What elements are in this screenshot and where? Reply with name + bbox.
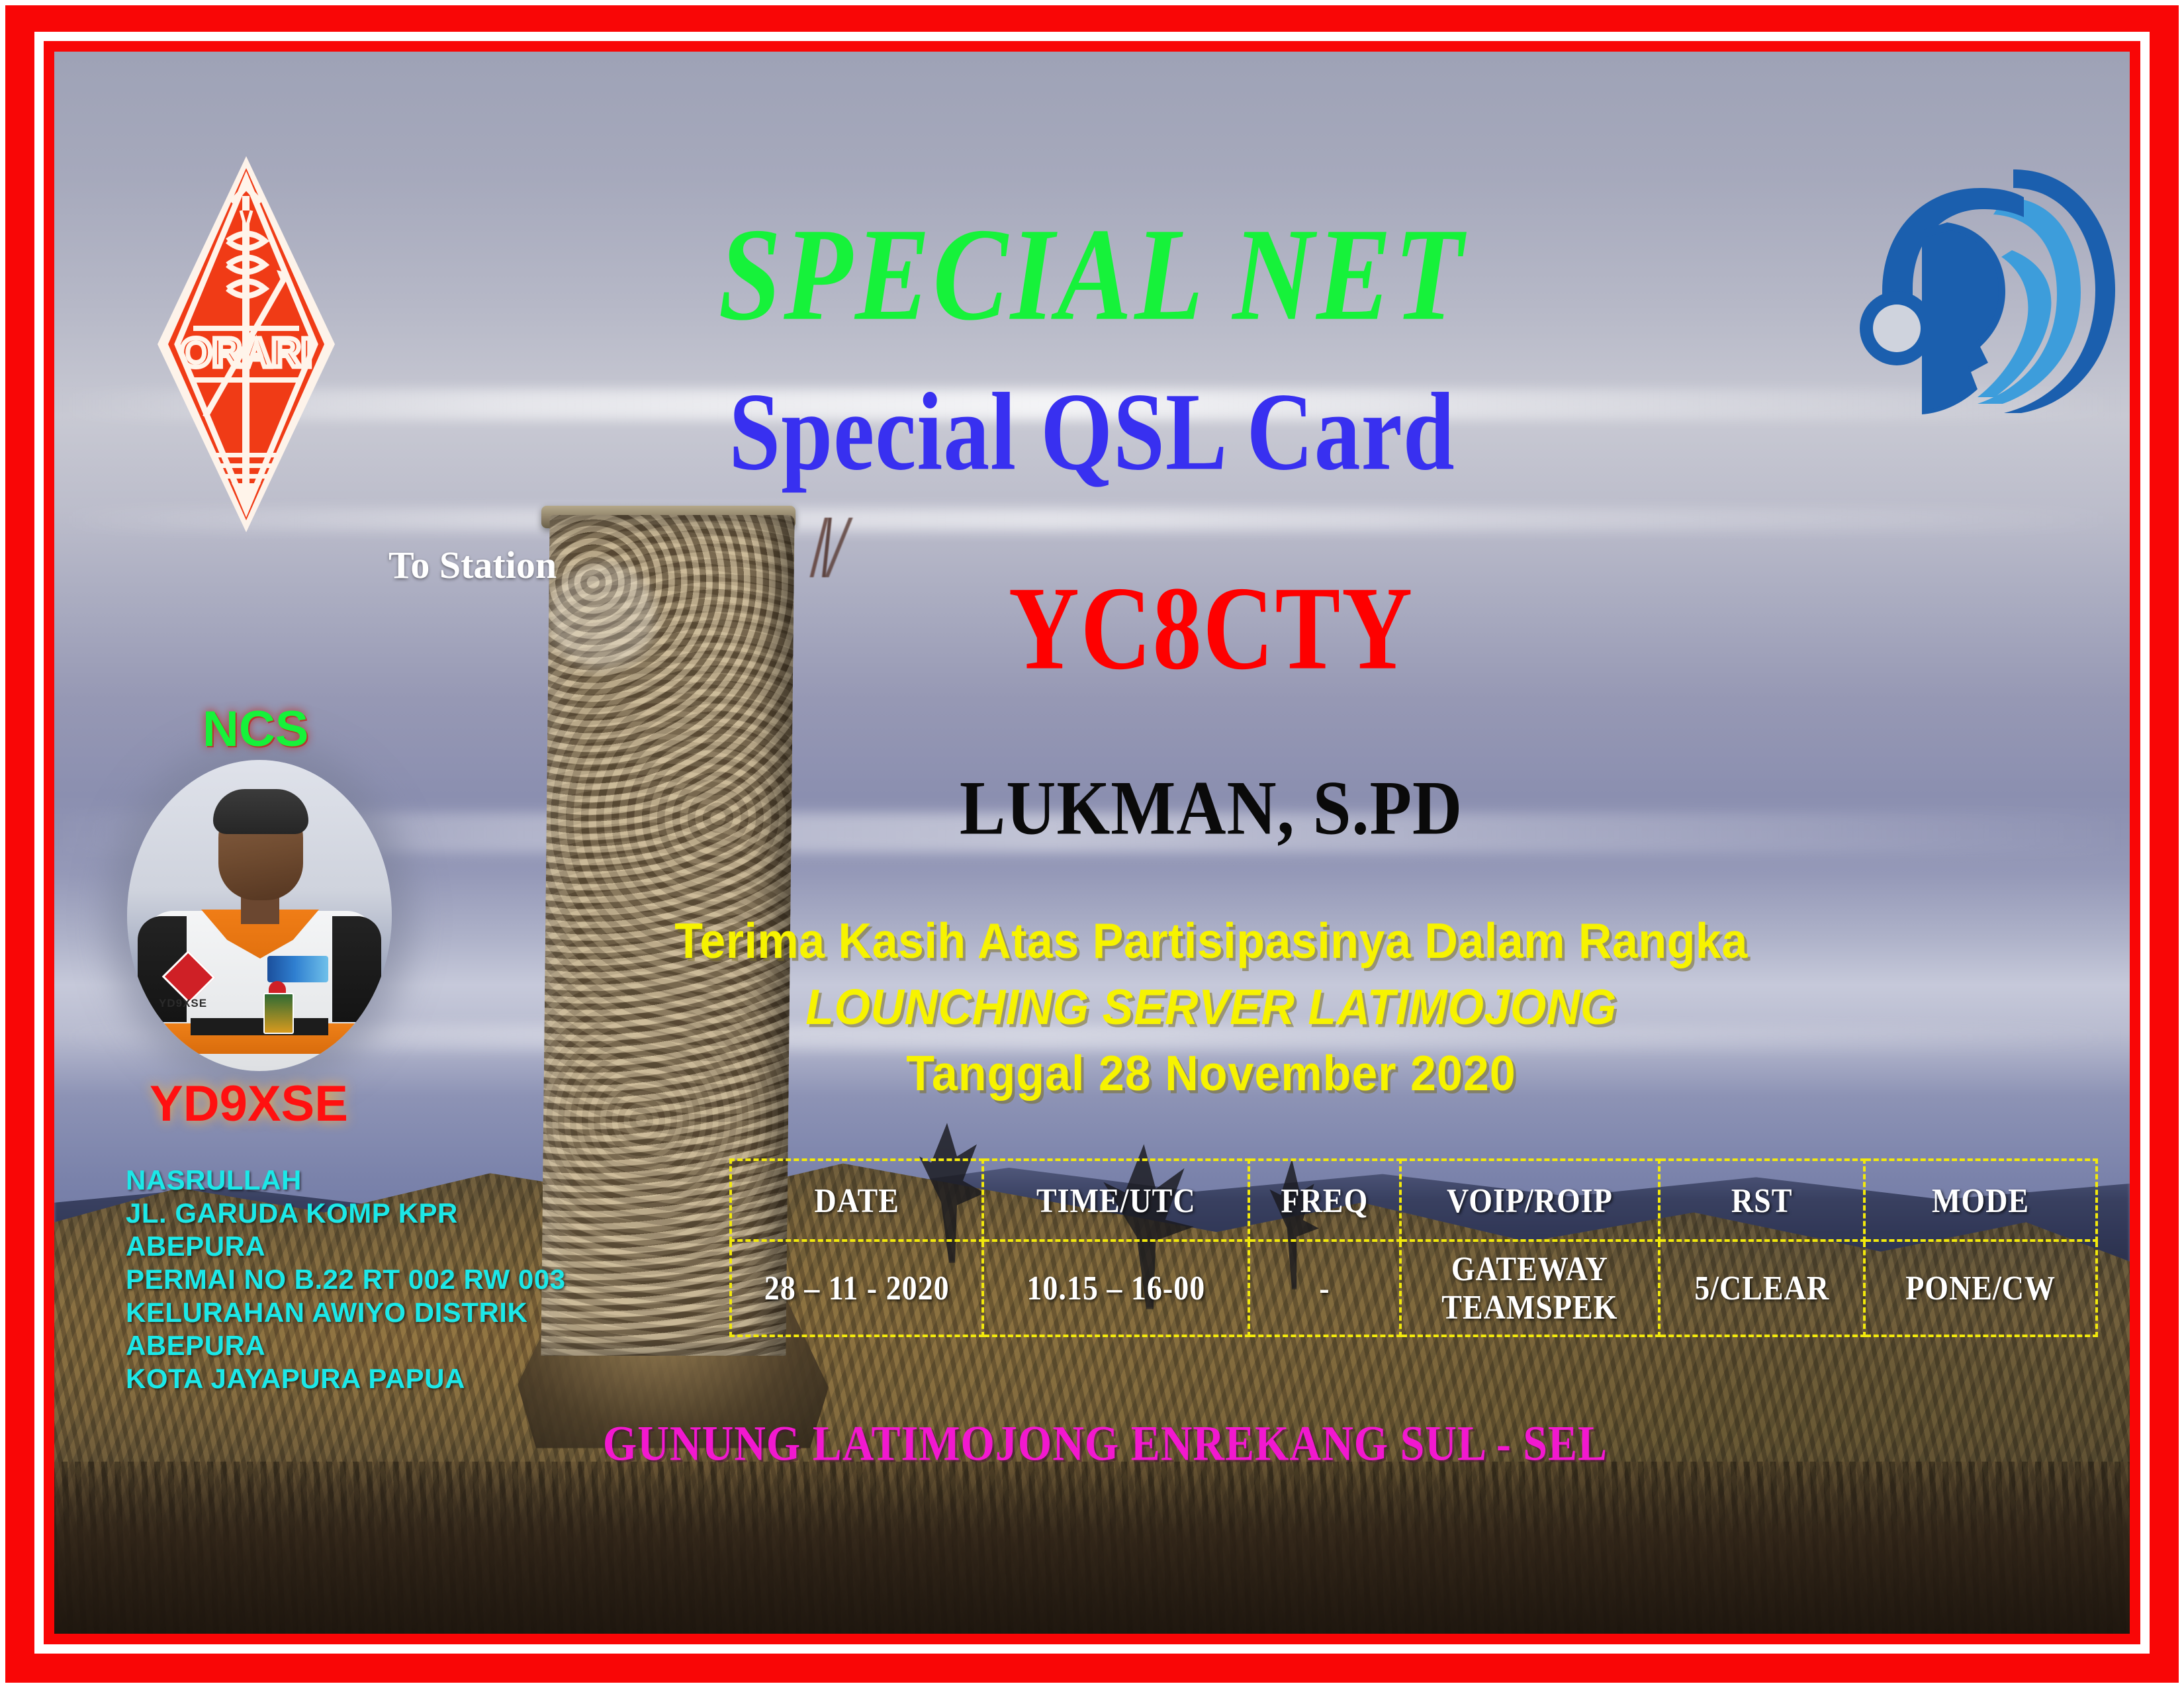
- ncs-label: NCS: [203, 700, 308, 758]
- table-cell-rst: 5/CLEAR: [1659, 1241, 1864, 1336]
- qso-log-table: DATE TIME/UTC FREQ VOIP/ROIP RST MODE 28…: [729, 1158, 2098, 1337]
- table-header-voip-roip: VOIP/ROIP: [1400, 1160, 1660, 1241]
- table-cell-freq: -: [1249, 1241, 1400, 1336]
- table-cell-voip: GATEWAY TEAMSPEK: [1400, 1241, 1660, 1336]
- address-line: PERMAI NO B.22 RT 002 RW 003: [126, 1263, 565, 1296]
- page-subtitle-qsl-card: Special QSL Card: [54, 368, 2130, 496]
- address-line: ABEPURA: [126, 1230, 565, 1263]
- page-title-special-net: SPECIAL NET: [54, 199, 2130, 351]
- qsl-card: ORARI: [0, 0, 2184, 1688]
- table-row: 28 – 11 - 2020 10.15 – 16-00 - GATEWAY T…: [731, 1241, 2097, 1336]
- address-line: KOTA JAYAPURA PAPUA: [126, 1362, 565, 1395]
- operator-name: LUKMAN, S.PD: [54, 764, 2130, 852]
- table-header-mode: MODE: [1864, 1160, 2097, 1241]
- thanks-line-1: Terima Kasih Atas Partisipasinya Dalam R…: [54, 912, 2130, 969]
- station-callsign: YC8CTY: [54, 560, 2130, 697]
- ncs-callsign: YD9XSE: [150, 1075, 348, 1133]
- event-location-line: GUNUNG LATIMOJONG ENREKANG SUL - SEL: [54, 1415, 2130, 1473]
- cloud-band: [54, 508, 2130, 531]
- ncs-postal-address: NASRULLAH JL. GARUDA KOMP KPR ABEPURA PE…: [126, 1164, 565, 1395]
- table-header-rst: RST: [1659, 1160, 1864, 1241]
- card-background-photo: ORARI: [54, 52, 2130, 1634]
- table-header-row: DATE TIME/UTC FREQ VOIP/ROIP RST MODE: [731, 1160, 2097, 1241]
- table-header-freq: FREQ: [1249, 1160, 1400, 1241]
- voip-line-1: GATEWAY: [1402, 1248, 1659, 1291]
- thanks-line-2-event: LOUNCHING SERVER LATIMOJONG: [54, 978, 2130, 1035]
- voip-line-2: TEAMSPEK: [1402, 1286, 1659, 1329]
- table-cell-date: 28 – 11 - 2020: [731, 1241, 983, 1336]
- address-line: NASRULLAH: [126, 1164, 565, 1197]
- table-header-time-utc: TIME/UTC: [983, 1160, 1249, 1241]
- table-cell-mode: PONE/CW: [1864, 1241, 2097, 1336]
- address-line: KELURAHAN AWIYO DISTRIK: [126, 1296, 565, 1329]
- foreground-dirt-strip: [54, 1462, 2130, 1634]
- address-line: JL. GARUDA KOMP KPR: [126, 1197, 565, 1230]
- thanks-line-3-date: Tanggal 28 November 2020: [54, 1045, 2130, 1102]
- address-line: ABEPURA: [126, 1329, 565, 1362]
- table-header-date: DATE: [731, 1160, 983, 1241]
- table-cell-time: 10.15 – 16-00: [983, 1241, 1249, 1336]
